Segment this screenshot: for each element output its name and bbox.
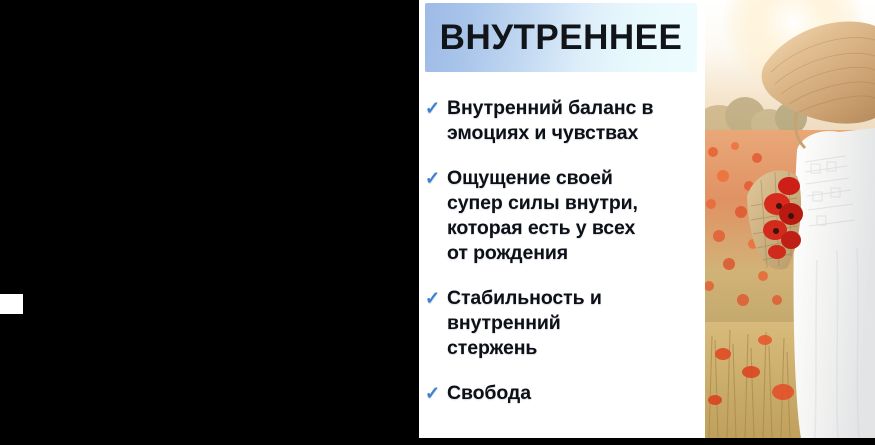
poppy-field-illustration [705,0,875,438]
left-letterbox-region [0,0,419,445]
bottom-letterbox-bar [0,438,875,445]
slide-panel: ВНУТРЕННЕЕ ✓ Внутренний баланс в эмоциях… [419,0,875,438]
white-marker-block [0,294,23,314]
list-item: ✓ Стабильность и внутренний стержень [425,286,707,361]
benefits-list: ✓ Внутренний баланс в эмоциях и чувствах… [425,96,707,406]
title-banner: ВНУТРЕННЕЕ [425,3,697,72]
check-icon: ✓ [425,286,447,311]
page-title: ВНУТРЕННЕЕ [440,20,683,55]
screenshot-canvas: ВНУТРЕННЕЕ ✓ Внутренний баланс в эмоциях… [0,0,875,445]
white-dress [794,128,875,438]
list-item-label: Внутренний баланс в эмоциях и чувствах [447,96,707,146]
check-icon: ✓ [425,381,447,406]
check-icon: ✓ [425,96,447,121]
list-item-label: Ощущение своей супер силы внутри, котора… [447,166,707,266]
poppy-field-photo [705,0,875,438]
list-item: ✓ Ощущение своей супер силы внутри, кото… [425,166,707,266]
list-item: ✓ Свобода [425,381,707,406]
list-item-label: Стабильность и внутренний стержень [447,286,707,361]
list-item: ✓ Внутренний баланс в эмоциях и чувствах [425,96,707,146]
list-item-label: Свобода [447,381,707,406]
check-icon: ✓ [425,166,447,191]
